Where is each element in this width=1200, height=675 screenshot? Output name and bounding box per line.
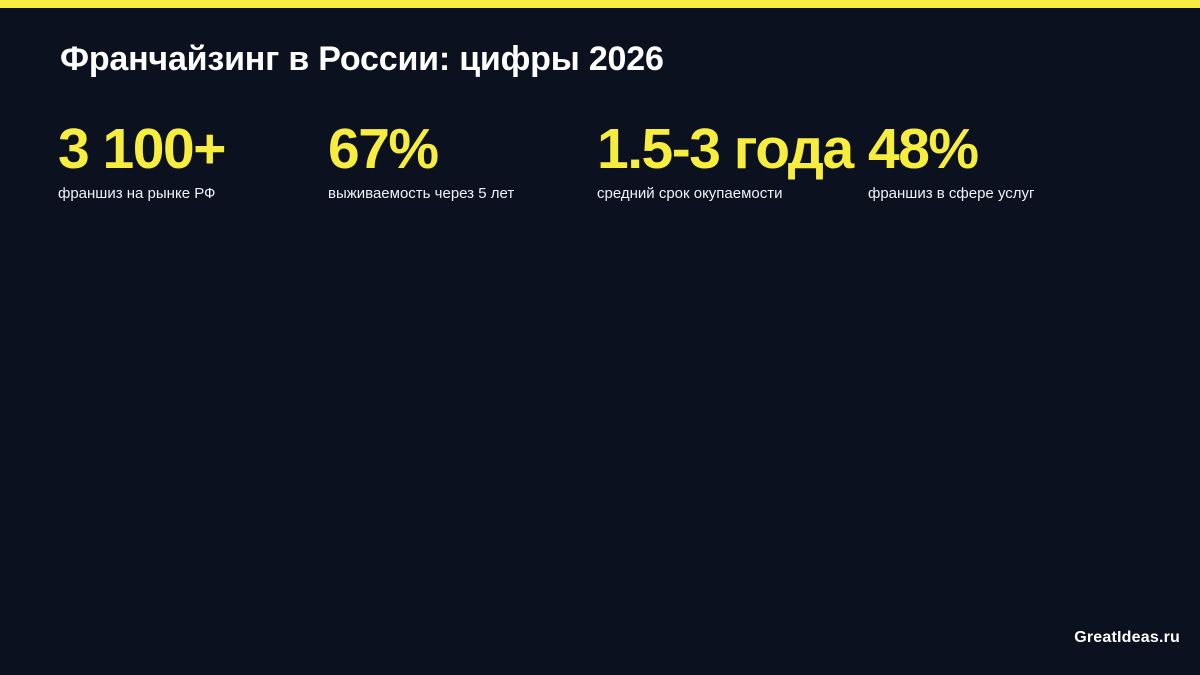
stat-value: 1.5-3 года xyxy=(597,118,853,180)
stat-label: франшиз на рынке РФ xyxy=(58,184,225,204)
stat-block-payback-period: 1.5-3 года средний срок окупаемости xyxy=(597,118,853,204)
top-accent-bar xyxy=(0,0,1200,8)
stat-value: 48% xyxy=(868,118,1035,180)
footer-brand: GreatIdeas.ru xyxy=(1074,628,1180,648)
stat-label: франшиз в сфере услуг xyxy=(868,184,1035,204)
stat-block-services-share: 48% франшиз в сфере услуг xyxy=(868,118,1035,204)
page-title: Франчайзинг в России: цифры 2026 xyxy=(60,38,664,80)
stat-block-survival-rate: 67% выживаемость через 5 лет xyxy=(328,118,514,204)
stat-label: выживаемость через 5 лет xyxy=(328,184,514,204)
stat-value: 67% xyxy=(328,118,514,180)
slide-root: Франчайзинг в России: цифры 2026 3 100+ … xyxy=(0,0,1200,675)
stats-row: 3 100+ франшиз на рынке РФ 67% выживаемо… xyxy=(0,118,1200,218)
stat-label: средний срок окупаемости xyxy=(597,184,853,204)
stat-value: 3 100+ xyxy=(58,118,225,180)
stat-block-franchises-count: 3 100+ франшиз на рынке РФ xyxy=(58,118,225,204)
